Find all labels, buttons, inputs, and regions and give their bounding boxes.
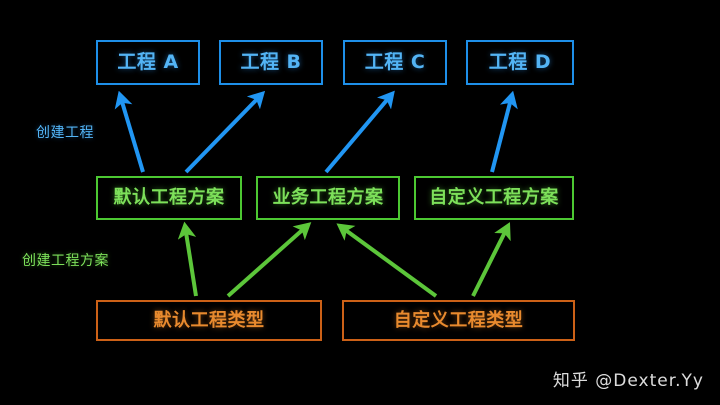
diagram-canvas: 工程 A工程 B工程 C工程 D 默认工程方案业务工程方案自定义工程方案 默认工… [0, 0, 720, 405]
node-label-project-b: 工程 B [240, 53, 301, 72]
edge-scheme-default-to-project-b [186, 94, 262, 172]
node-scheme-business[interactable]: 业务工程方案 [256, 176, 400, 220]
caption-create-project-scheme: 创建工程方案 [22, 250, 109, 270]
node-label-type-default: 默认工程类型 [154, 312, 265, 330]
edges-scheme-creation [185, 225, 508, 296]
node-project-c[interactable]: 工程 C [343, 40, 447, 85]
node-scheme-default[interactable]: 默认工程方案 [96, 176, 242, 220]
node-label-scheme-custom: 自定义工程方案 [429, 189, 559, 207]
edge-type-custom-to-scheme-business [340, 226, 436, 296]
edge-type-default-to-scheme-business [228, 225, 308, 296]
node-type-custom[interactable]: 自定义工程类型 [342, 300, 575, 341]
edge-scheme-business-to-project-c [326, 94, 392, 172]
node-type-default[interactable]: 默认工程类型 [96, 300, 322, 341]
node-label-project-d: 工程 D [489, 53, 551, 72]
node-label-type-custom: 自定义工程类型 [394, 312, 524, 330]
node-scheme-custom[interactable]: 自定义工程方案 [414, 176, 574, 220]
node-label-scheme-business: 业务工程方案 [273, 189, 384, 207]
node-project-d[interactable]: 工程 D [466, 40, 574, 85]
node-label-project-c: 工程 C [365, 53, 426, 72]
node-project-a[interactable]: 工程 A [96, 40, 200, 85]
edges-project-creation [120, 94, 512, 172]
caption-create-project: 创建工程 [36, 122, 94, 142]
node-project-b[interactable]: 工程 B [219, 40, 323, 85]
edge-scheme-default-to-project-a [120, 95, 143, 172]
watermark: 知乎 @Dexter.Yy [553, 366, 704, 391]
edge-scheme-custom-to-project-d [492, 95, 512, 172]
node-label-scheme-default: 默认工程方案 [114, 189, 225, 207]
node-label-project-a: 工程 A [117, 53, 178, 72]
edge-type-custom-to-scheme-custom [473, 226, 508, 296]
edge-type-default-to-scheme-default [185, 226, 196, 296]
